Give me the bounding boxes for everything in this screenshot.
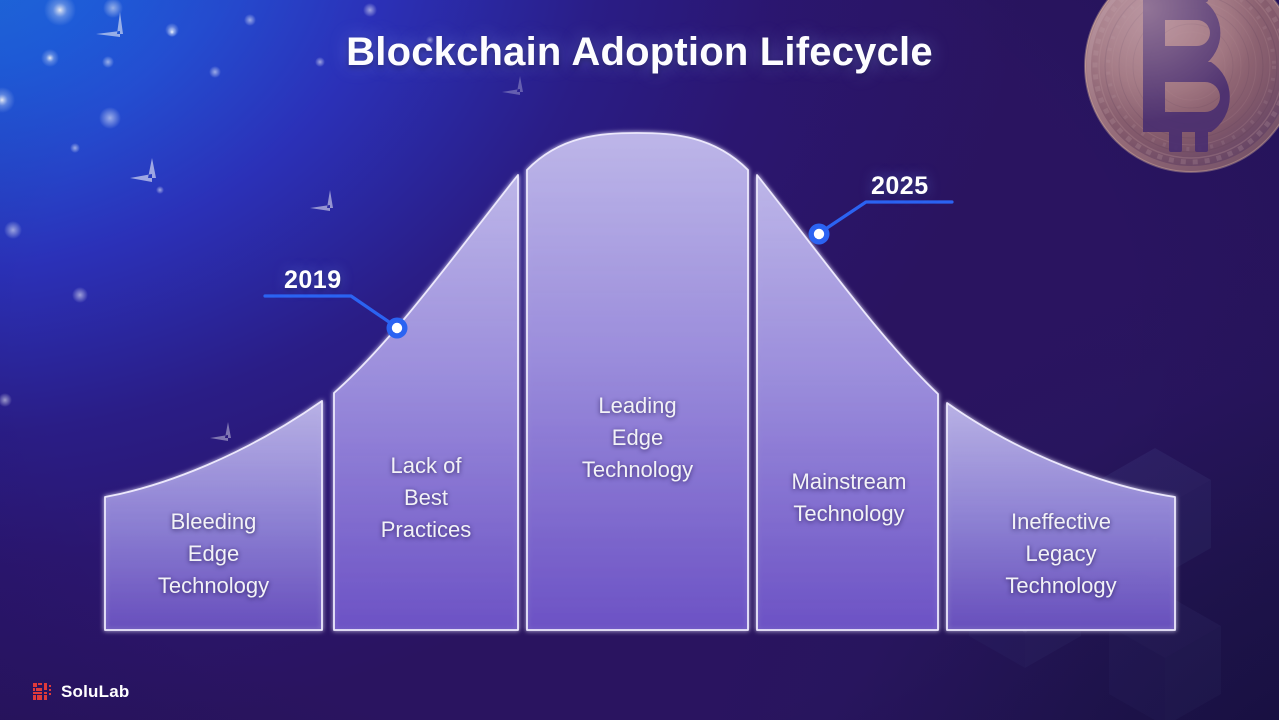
year-label-2019: 2019 <box>284 266 342 295</box>
annotation-2025[interactable] <box>809 202 953 245</box>
chart-segment-lack-of-best-practices[interactable] <box>334 175 518 630</box>
bell-curve-chart <box>0 0 1279 720</box>
solulab-pixel-mark-icon <box>33 682 53 702</box>
slide-canvas: Blockchain Adoption Lifecycle <box>0 0 1279 720</box>
chart-segment-ineffective-legacy[interactable] <box>947 403 1175 630</box>
annotation-2019[interactable] <box>265 296 408 339</box>
chart-segment-leading-edge[interactable] <box>527 133 748 630</box>
chart-segment-mainstream[interactable] <box>757 175 938 630</box>
brand-logo-text: SoluLab <box>61 682 129 702</box>
chart-segment-bleeding-edge[interactable] <box>105 401 322 630</box>
year-label-2025: 2025 <box>871 172 929 201</box>
brand-logo[interactable]: SoluLab <box>33 682 129 702</box>
